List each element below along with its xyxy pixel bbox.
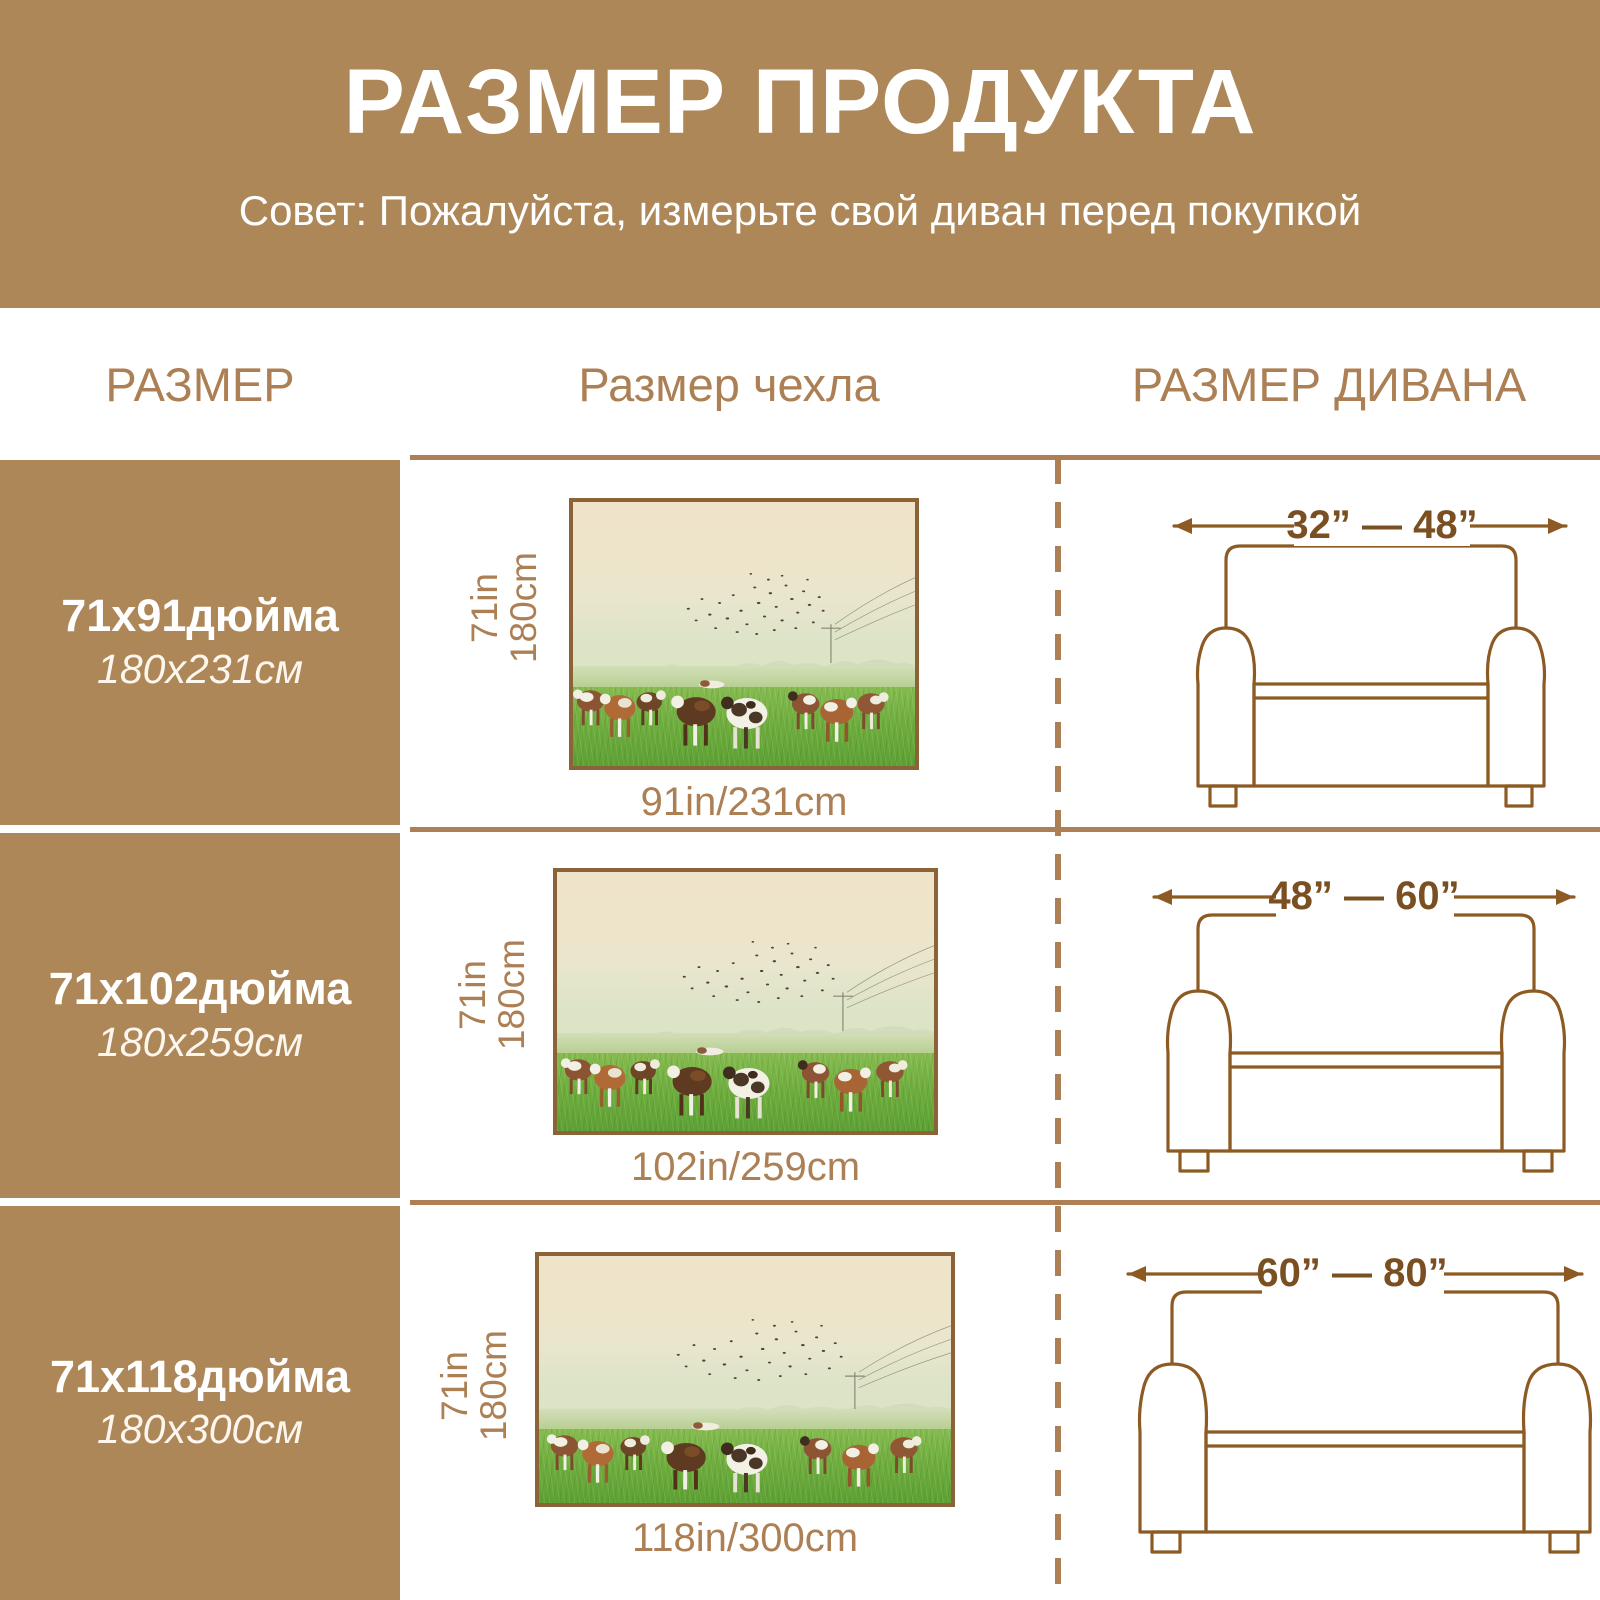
cover-height-label-row-1: 71in 180cm: [466, 528, 542, 688]
cover-cell-row-2: 71in 180cm: [400, 833, 1058, 1200]
size-cm-label: 180x231см: [97, 646, 303, 693]
size-inches-label: 71x91дюйма: [61, 592, 339, 639]
column-header-cover-size: Размер чехла: [400, 308, 1058, 460]
column-header-sofa-size: РАЗМЕР ДИВАНА: [1058, 308, 1600, 460]
column-header-size: РАЗМЕР: [0, 308, 400, 460]
sofa-outline-icon: 48” — 60”: [1058, 833, 1600, 1200]
divider-row-1-2: [410, 827, 1600, 832]
cover-height-label-row-2: 71in 180cm: [454, 915, 530, 1075]
size-chart-page: РАЗМЕР ПРОДУКТА Совет: Пожалуйста, измер…: [0, 0, 1600, 1600]
size-cell-row-2: 71x102дюйма 180x259см: [0, 833, 400, 1198]
cover-height-cm-label: 180cm: [505, 552, 542, 663]
cover-width-label-row-3: 118in/300cm: [535, 1518, 955, 1558]
cover-cell-row-3: 71in 180cm: [400, 1206, 1058, 1600]
cover-photo-row-1: [569, 498, 919, 770]
cow-herd-icon: [539, 1256, 951, 1503]
cover-height-inches-label: 71in: [466, 573, 503, 643]
sofa-outline-icon: 60” — 80”: [1058, 1206, 1600, 1600]
cover-height-cm-label: 180cm: [493, 939, 530, 1050]
column-header-row: РАЗМЕР Размер чехла РАЗМЕР ДИВАНА: [0, 308, 1600, 460]
sofa-cell-row-1: 32” — 48”: [1058, 460, 1600, 827]
cover-photo-row-2: [553, 868, 938, 1135]
sofa-dimension-text: 32” — 48”: [1286, 503, 1477, 547]
size-inches-label: 71x118дюйма: [50, 1353, 350, 1400]
cover-width-label-row-1: 91in/231cm: [569, 782, 919, 822]
cover-height-inches-label: 71in: [454, 960, 491, 1030]
cover-height-inches-label: 71in: [436, 1351, 473, 1421]
cover-height-label-row-3: 71in 180cm: [436, 1306, 512, 1466]
page-title: РАЗМЕР ПРОДУКТА: [343, 56, 1256, 148]
sofa-dimension-text: 60” — 80”: [1256, 1251, 1447, 1295]
divider-row-2-3: [410, 1200, 1600, 1205]
size-inches-label: 71x102дюйма: [49, 965, 352, 1012]
cow-herd-icon: [573, 502, 915, 766]
cover-photo-row-3: [535, 1252, 955, 1507]
cow-herd-icon: [557, 872, 934, 1131]
page-subtitle: Совет: Пожалуйста, измерьте свой диван п…: [239, 190, 1362, 232]
sofa-outline-icon: 32” — 48”: [1058, 460, 1600, 827]
pasture-scene: [573, 502, 915, 766]
size-cm-label: 180x300см: [97, 1406, 303, 1453]
size-cm-label: 180x259см: [97, 1019, 303, 1066]
header-banner: РАЗМЕР ПРОДУКТА Совет: Пожалуйста, измер…: [0, 0, 1600, 308]
cover-cell-row-1: 71in 180cm: [400, 460, 1058, 827]
size-cell-row-3: 71x118дюйма 180x300см: [0, 1206, 400, 1600]
sofa-cell-row-2: 48” — 60”: [1058, 833, 1600, 1200]
pasture-scene: [539, 1256, 951, 1503]
sofa-dimension-text: 48” — 60”: [1268, 874, 1459, 918]
pasture-scene: [557, 872, 934, 1131]
cover-height-cm-label: 180cm: [475, 1330, 512, 1441]
sofa-cell-row-3: 60” — 80”: [1058, 1206, 1600, 1600]
size-cell-row-1: 71x91дюйма 180x231см: [0, 460, 400, 825]
cover-width-label-row-2: 102in/259cm: [553, 1147, 938, 1187]
